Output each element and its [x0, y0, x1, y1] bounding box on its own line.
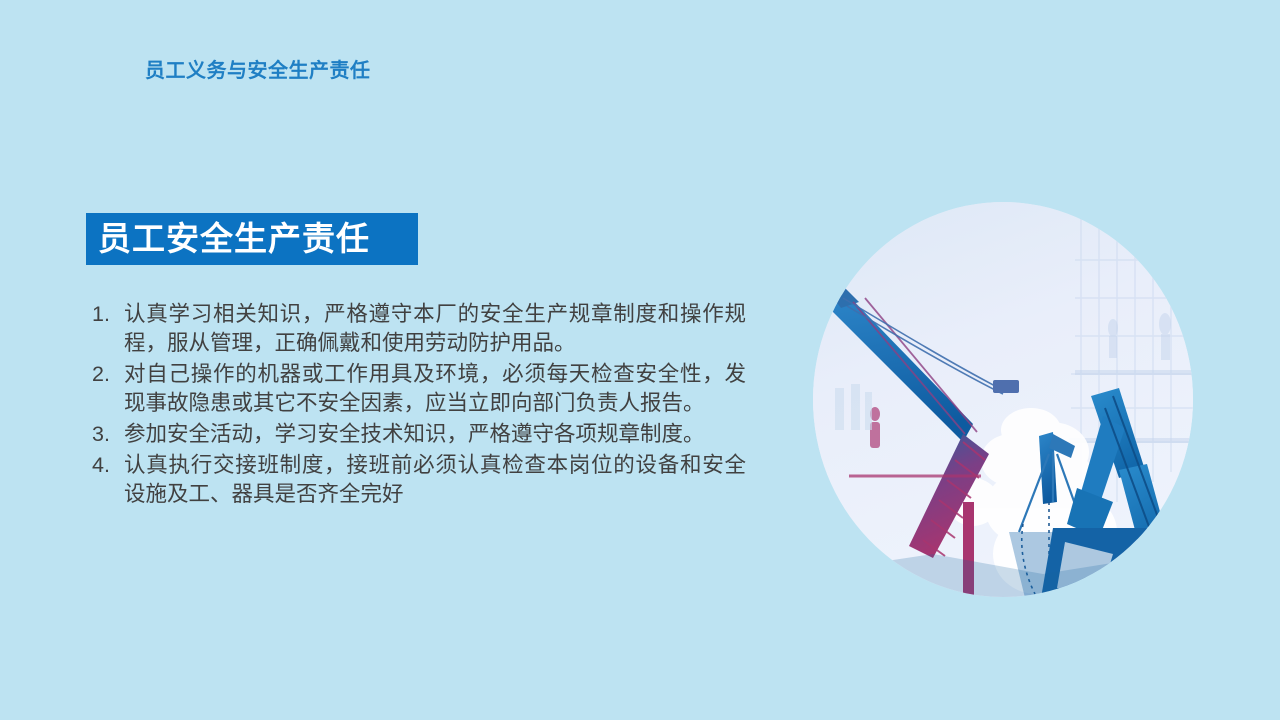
list-item: 2. 对自己操作的机器或工作用具及环境，必须每天检查安全性，发现事故隐患或其它不… — [86, 360, 746, 418]
list-item-number: 4. — [86, 451, 124, 480]
list-item-text: 参加安全活动，学习安全技术知识，严格遵守各项规章制度。 — [124, 420, 746, 449]
section-badge: 员工安全生产责任 — [86, 213, 418, 265]
list-item-number: 2. — [86, 360, 124, 389]
construction-site-graphic — [813, 202, 1193, 597]
list-item: 1. 认真学习相关知识，严格遵守本厂的安全生产规章制度和操作规程，服从管理，正确… — [86, 300, 746, 358]
slide-canvas: 员工义务与安全生产责任 员工安全生产责任 1. 认真学习相关知识，严格遵守本厂的… — [0, 0, 1280, 720]
list-item-number: 1. — [86, 300, 124, 329]
list-item-text: 认真学习相关知识，严格遵守本厂的安全生产规章制度和操作规程，服从管理，正确佩戴和… — [124, 300, 746, 358]
list-item: 3. 参加安全活动，学习安全技术知识，严格遵守各项规章制度。 — [86, 420, 746, 449]
page-title: 员工义务与安全生产责任 — [145, 57, 745, 85]
list-item-text: 认真执行交接班制度，接班前必须认真检查本岗位的设备和安全设施及工、器具是否齐全完… — [124, 451, 746, 509]
list-item: 4. 认真执行交接班制度，接班前必须认真检查本岗位的设备和安全设施及工、器具是否… — [86, 451, 746, 509]
slide-header: 员工义务与安全生产责任 — [145, 57, 745, 87]
construction-site-photo — [813, 202, 1193, 597]
list-item-number: 3. — [86, 420, 124, 449]
duty-list: 1. 认真学习相关知识，严格遵守本厂的安全生产规章制度和操作规程，服从管理，正确… — [86, 300, 746, 511]
list-item-text: 对自己操作的机器或工作用具及环境，必须每天检查安全性，发现事故隐患或其它不安全因… — [124, 360, 746, 418]
section-badge-label: 员工安全生产责任 — [98, 221, 370, 257]
